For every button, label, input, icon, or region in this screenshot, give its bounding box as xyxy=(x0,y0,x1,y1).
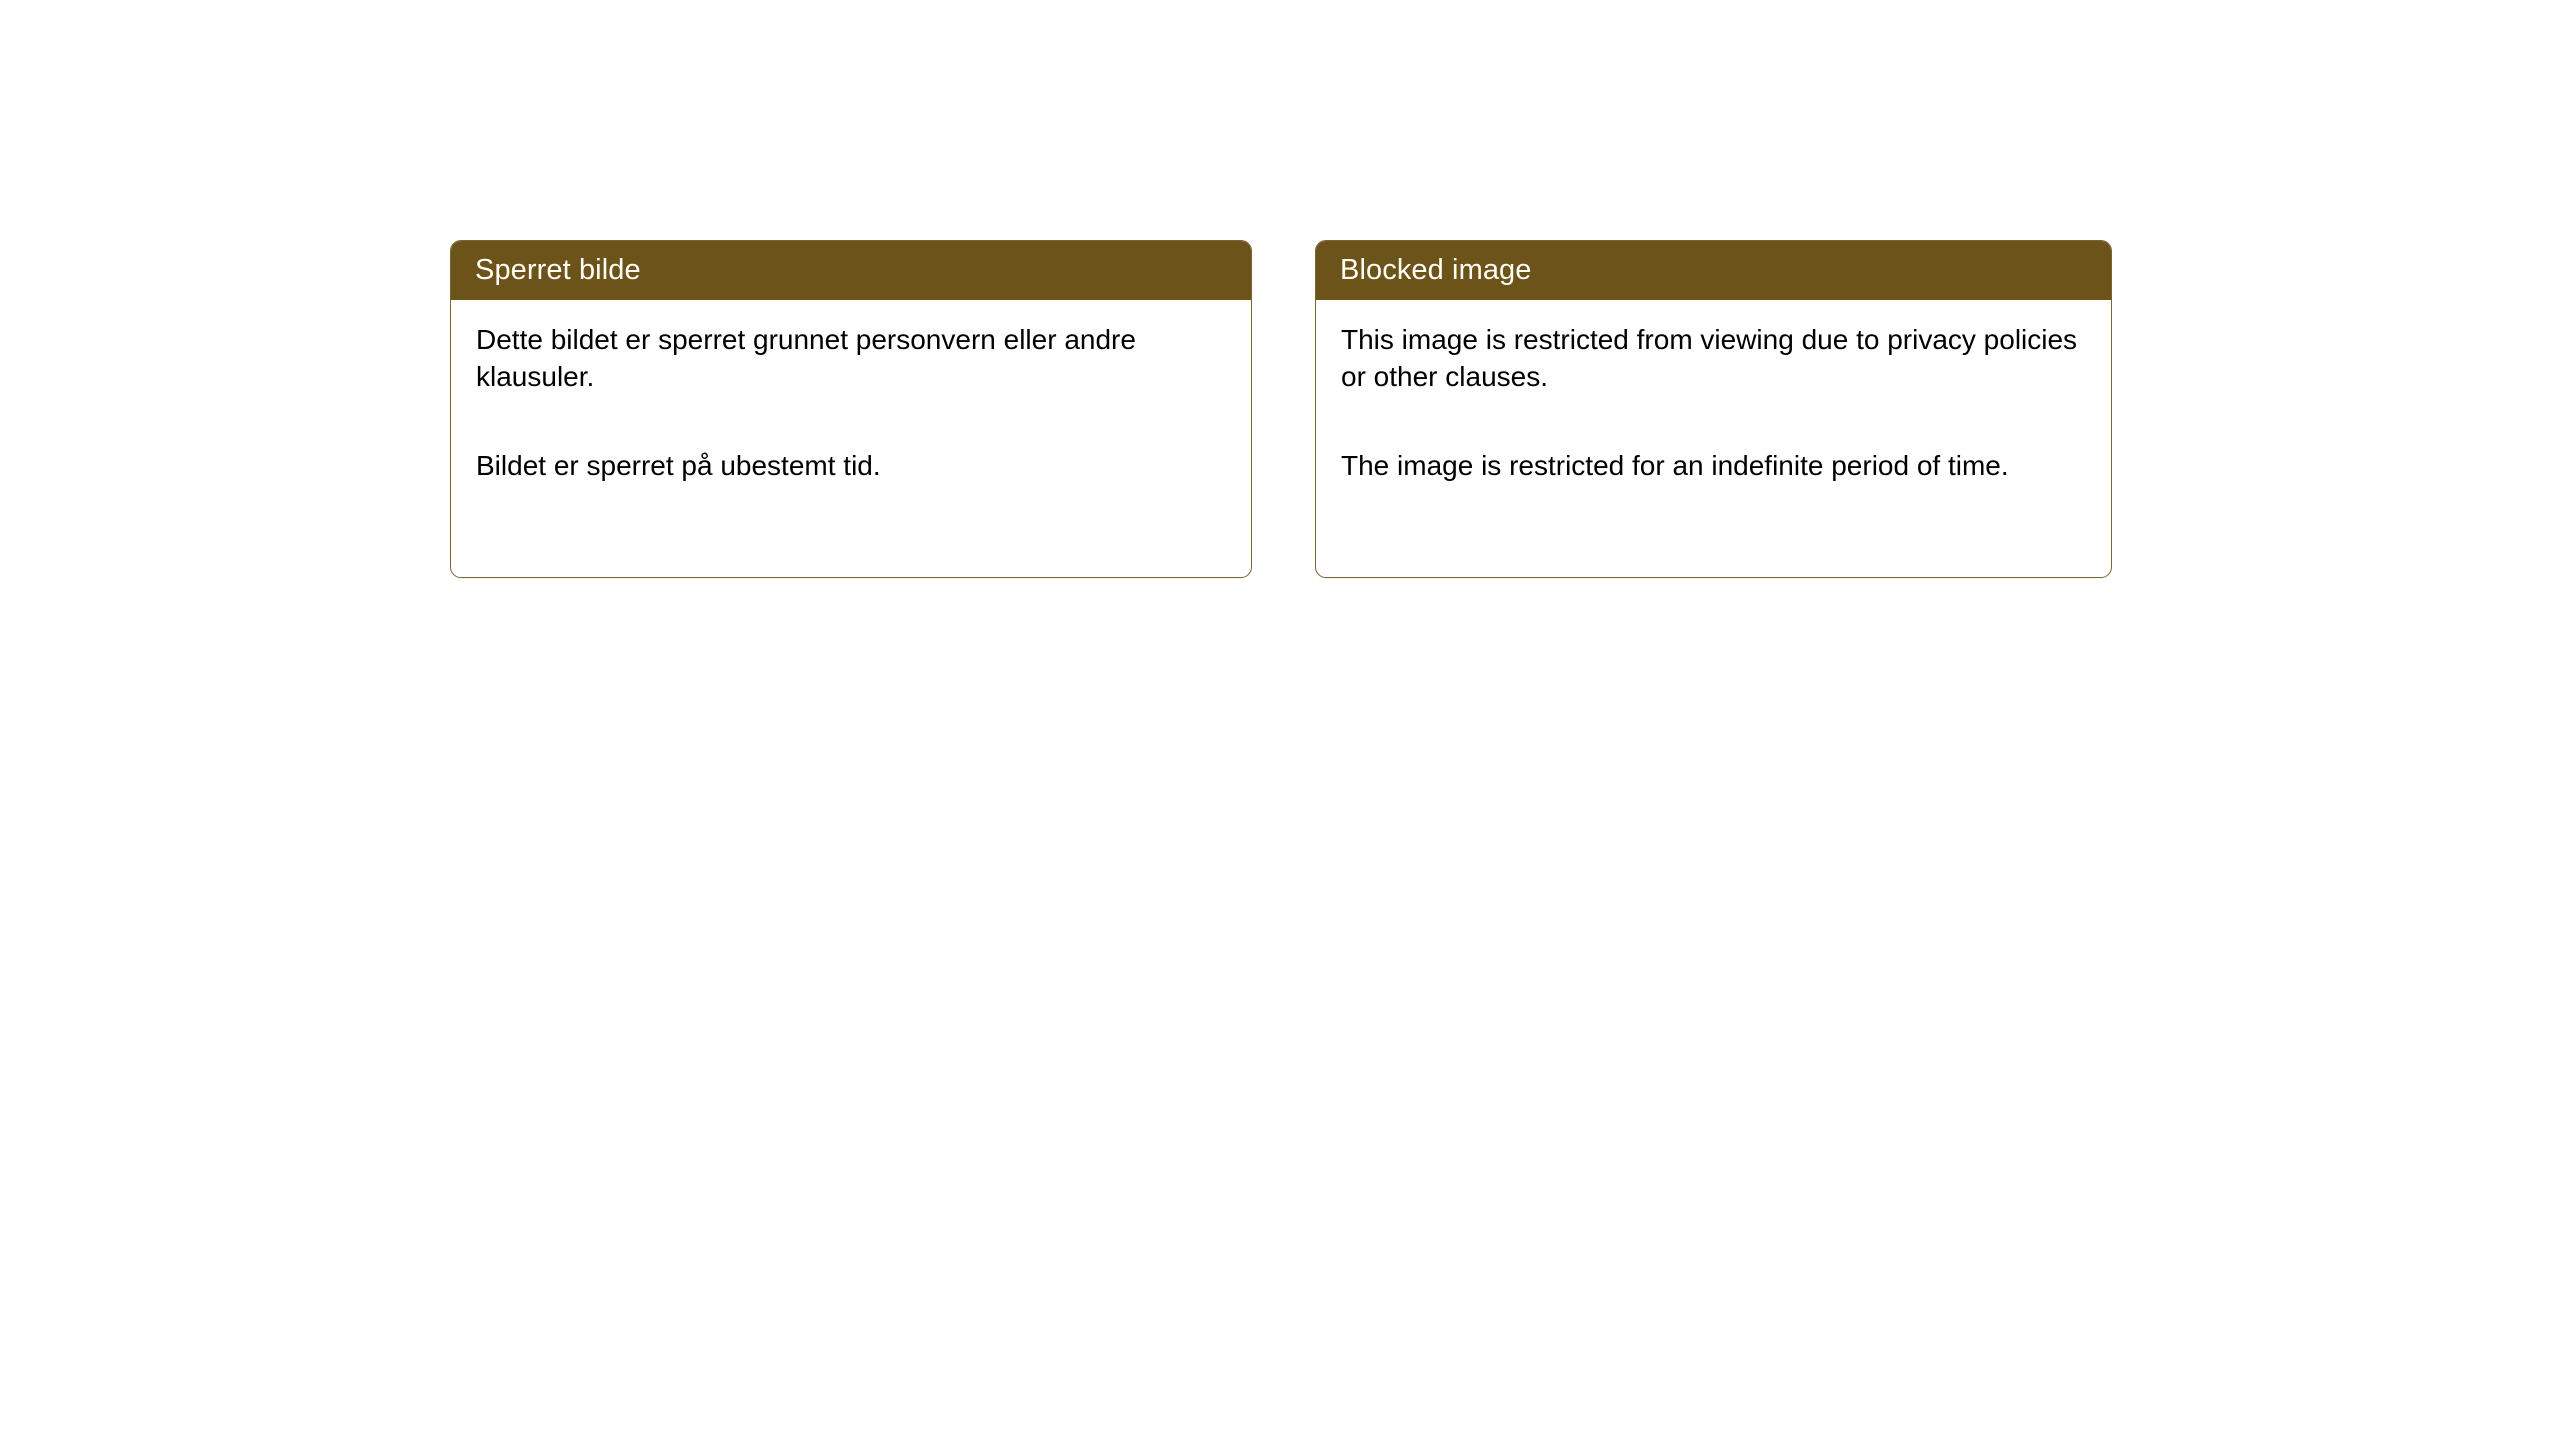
card-paragraph-reason-english: This image is restricted from viewing du… xyxy=(1341,322,2081,396)
card-header-english: Blocked image xyxy=(1315,240,2112,300)
card-paragraph-reason-norwegian: Dette bildet er sperret grunnet personve… xyxy=(476,322,1211,396)
blocked-image-notice-area: Sperret bilde Dette bildet er sperret gr… xyxy=(450,240,2112,578)
card-paragraph-duration-english: The image is restricted for an indefinit… xyxy=(1341,448,2081,485)
card-body-norwegian: Dette bildet er sperret grunnet personve… xyxy=(451,300,1251,577)
blocked-image-card-english: Blocked image This image is restricted f… xyxy=(1315,240,2112,578)
card-header-norwegian: Sperret bilde xyxy=(450,240,1252,300)
card-paragraph-duration-norwegian: Bildet er sperret på ubestemt tid. xyxy=(476,448,1211,485)
card-title-norwegian: Sperret bilde xyxy=(475,256,641,285)
card-body-english: This image is restricted from viewing du… xyxy=(1316,300,2111,577)
blocked-image-card-norwegian: Sperret bilde Dette bildet er sperret gr… xyxy=(450,240,1252,578)
card-title-english: Blocked image xyxy=(1340,256,1532,285)
